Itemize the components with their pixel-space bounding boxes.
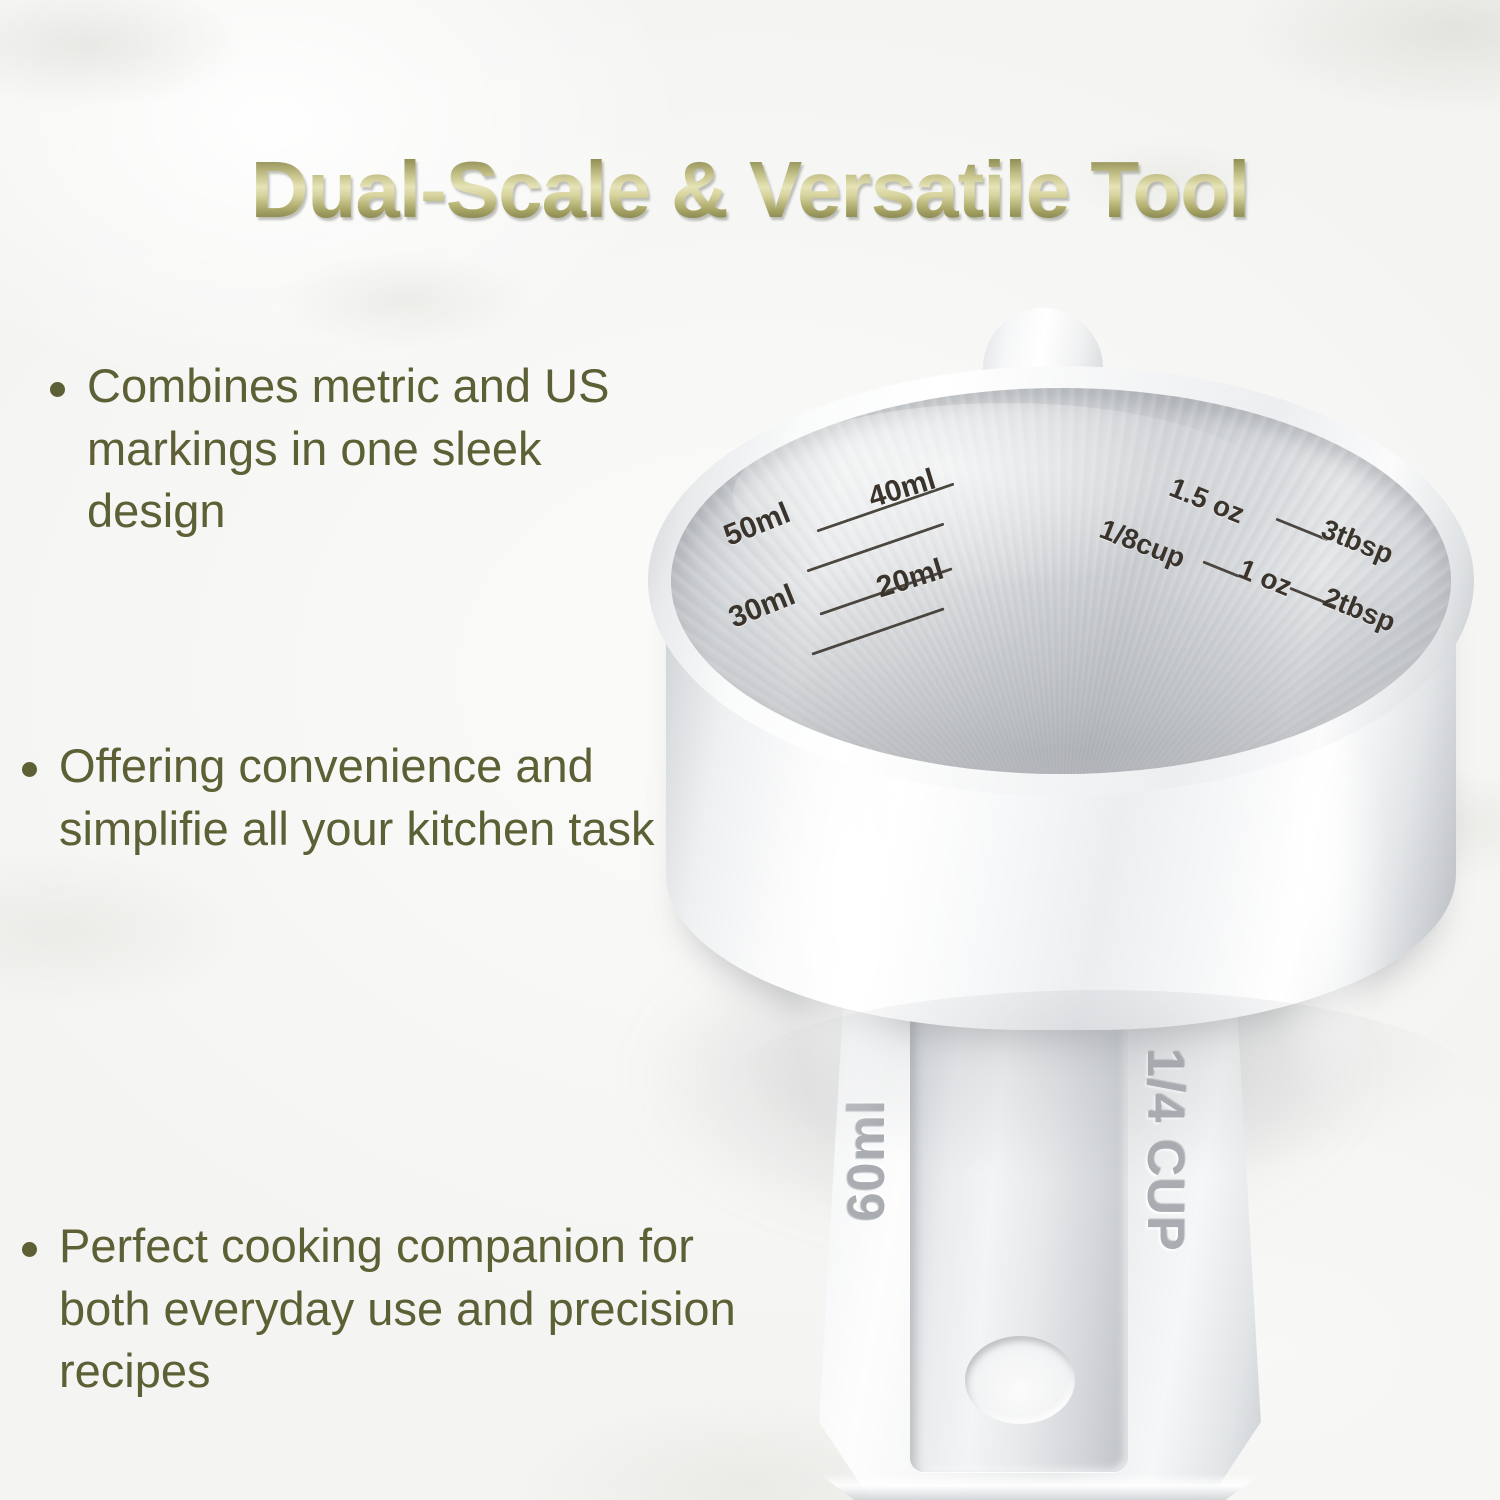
bowl-interior (671, 388, 1451, 774)
feature-text: Combines metric and US markings in one s… (87, 355, 670, 543)
bullet-dot-icon (22, 1242, 37, 1257)
list-item: Offering convenience and simplifie all y… (22, 735, 662, 860)
infographic-page: Dual-Scale & Versatile Tool Combines met… (0, 0, 1500, 1500)
interior-shading (671, 573, 1451, 774)
product-image: 60ml 1/4 CUP (600, 290, 1500, 1500)
interior-gloss (733, 403, 1279, 588)
handle-hang-hole (965, 1336, 1075, 1424)
cup-bowl: 50ml 40ml 30ml 20ml 1.5 oz 3tbsp 1/8cup … (628, 290, 1488, 1070)
feature-text: Offering convenience and simplifie all y… (59, 735, 662, 860)
bullet-dot-icon (50, 382, 65, 397)
handle-bottom-bevel (819, 1474, 1261, 1500)
bowl-lower-shading (726, 990, 1476, 1180)
bullet-dot-icon (22, 762, 37, 777)
list-item: Combines metric and US markings in one s… (50, 355, 670, 543)
